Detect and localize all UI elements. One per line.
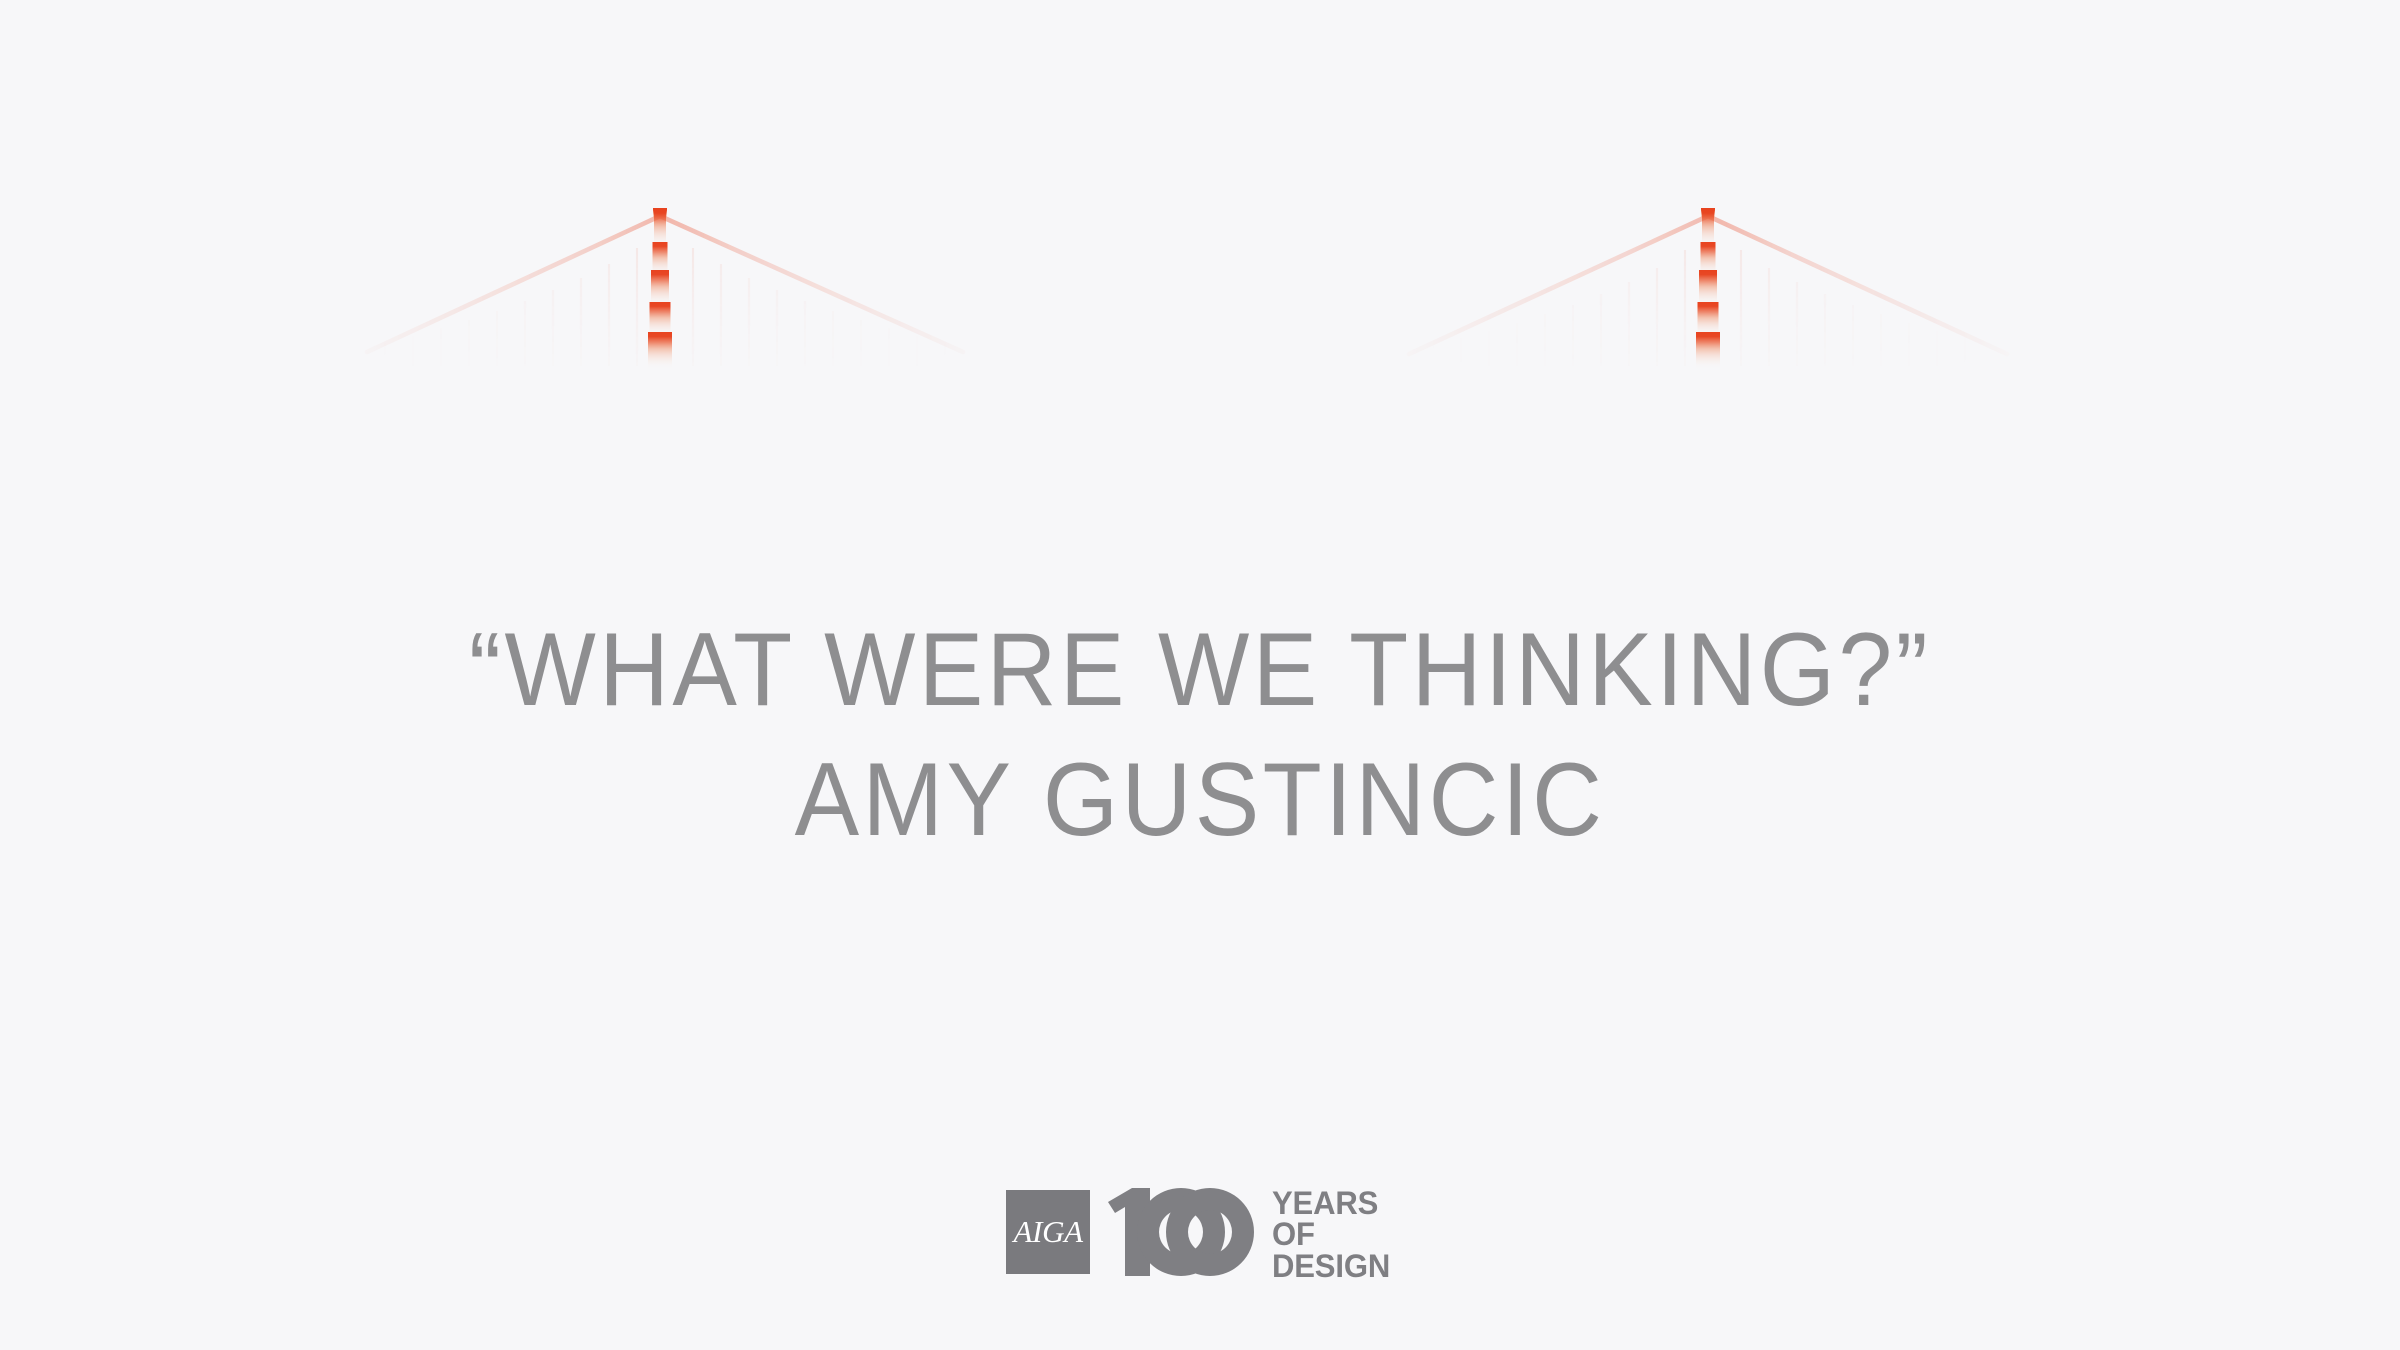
aiga-logo-mark: AIGA: [1006, 1190, 1090, 1274]
tagline-line-1: YEARS: [1272, 1188, 1390, 1219]
aiga-100-years-of-design-logo: AIGA YEARS OF DESIGN: [0, 1186, 2400, 1282]
tagline-line-2: OF: [1272, 1219, 1390, 1250]
title-block: “WHAT WERE WE THINKING?” AMY GUSTINCIC: [0, 618, 2400, 852]
slide-canvas: “WHAT WERE WE THINKING?” AMY GUSTINCIC A…: [0, 0, 2400, 1350]
presenter-name: AMY GUSTINCIC: [84, 748, 2316, 852]
golden-gate-bridge-right-icon: [1395, 190, 2015, 390]
tagline-years-of-design: YEARS OF DESIGN: [1272, 1188, 1394, 1282]
presentation-title: “WHAT WERE WE THINKING?”: [84, 618, 2316, 748]
hundred-numeral-icon: [1106, 1186, 1256, 1278]
tagline-line-3: DESIGN: [1272, 1251, 1390, 1282]
logo-inner: AIGA YEARS OF DESIGN: [1006, 1186, 1394, 1282]
golden-gate-bridge-left-icon: [355, 190, 975, 390]
bridge-illustration-row: [0, 0, 2400, 420]
aiga-wordmark: AIGA: [1006, 1216, 1090, 1247]
